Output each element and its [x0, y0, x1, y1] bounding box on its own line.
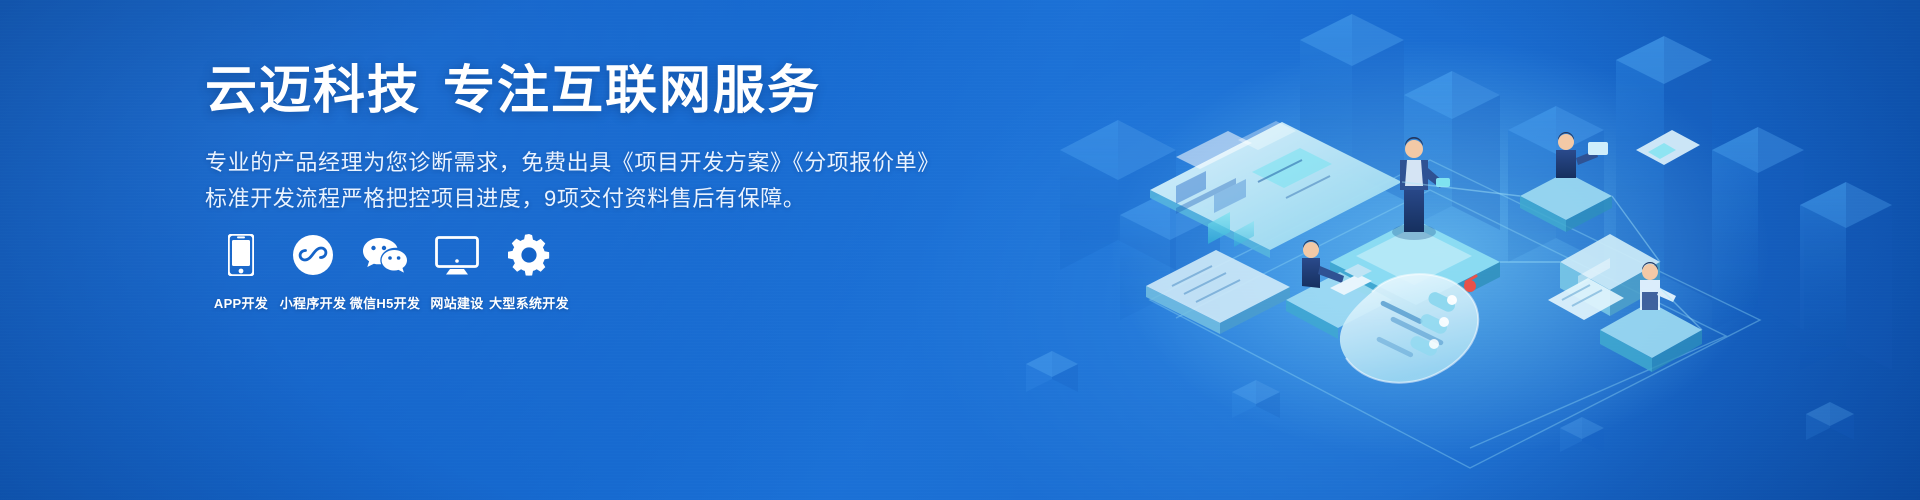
headline-tagline: 专注互联网服务: [443, 62, 821, 120]
service-list: APP开发 小程序开发 微信: [205, 232, 565, 312]
service-label: 微信H5开发: [350, 293, 420, 312]
service-label: 网站建设: [430, 293, 483, 312]
page-title: 云迈科技专注互联网服务: [205, 63, 905, 119]
hero-copy: 云迈科技专注互联网服务 专业的产品经理为您诊断需求，免费出具《项目开发方案》《分…: [205, 63, 905, 217]
subtitle-line-1: 专业的产品经理为您诊断需求，免费出具《项目开发方案》《分项报价单》: [205, 145, 905, 181]
hero-subtitle: 专业的产品经理为您诊断需求，免费出具《项目开发方案》《分项报价单》 标准开发流程…: [205, 145, 905, 217]
service-item-mini-program[interactable]: 小程序开发: [277, 232, 349, 312]
service-item-website[interactable]: 网站建设: [421, 232, 493, 312]
mobile-phone-icon: [228, 232, 254, 276]
service-item-wechat-h5[interactable]: 微信H5开发: [349, 232, 421, 312]
service-label: APP开发: [214, 293, 268, 312]
illustration-container: [1000, 0, 1920, 500]
hero-banner: 云迈科技专注互联网服务 专业的产品经理为您诊断需求，免费出具《项目开发方案》《分…: [0, 0, 1920, 500]
monitor-icon: [435, 232, 479, 276]
headline-brand: 云迈科技: [205, 62, 421, 120]
service-label: 小程序开发: [280, 293, 347, 312]
service-item-large-system[interactable]: 大型系统开发: [493, 232, 565, 312]
gear-icon: [508, 232, 550, 276]
service-item-app[interactable]: APP开发: [205, 232, 277, 312]
service-label: 大型系统开发: [489, 293, 569, 312]
subtitle-line-2: 标准开发流程严格把控项目进度，9项交付资料售后有保障。: [205, 181, 905, 217]
isometric-team-dashboard-illustration: [1000, 0, 1920, 500]
wechat-icon: [362, 232, 408, 276]
mini-program-icon: [292, 232, 334, 276]
